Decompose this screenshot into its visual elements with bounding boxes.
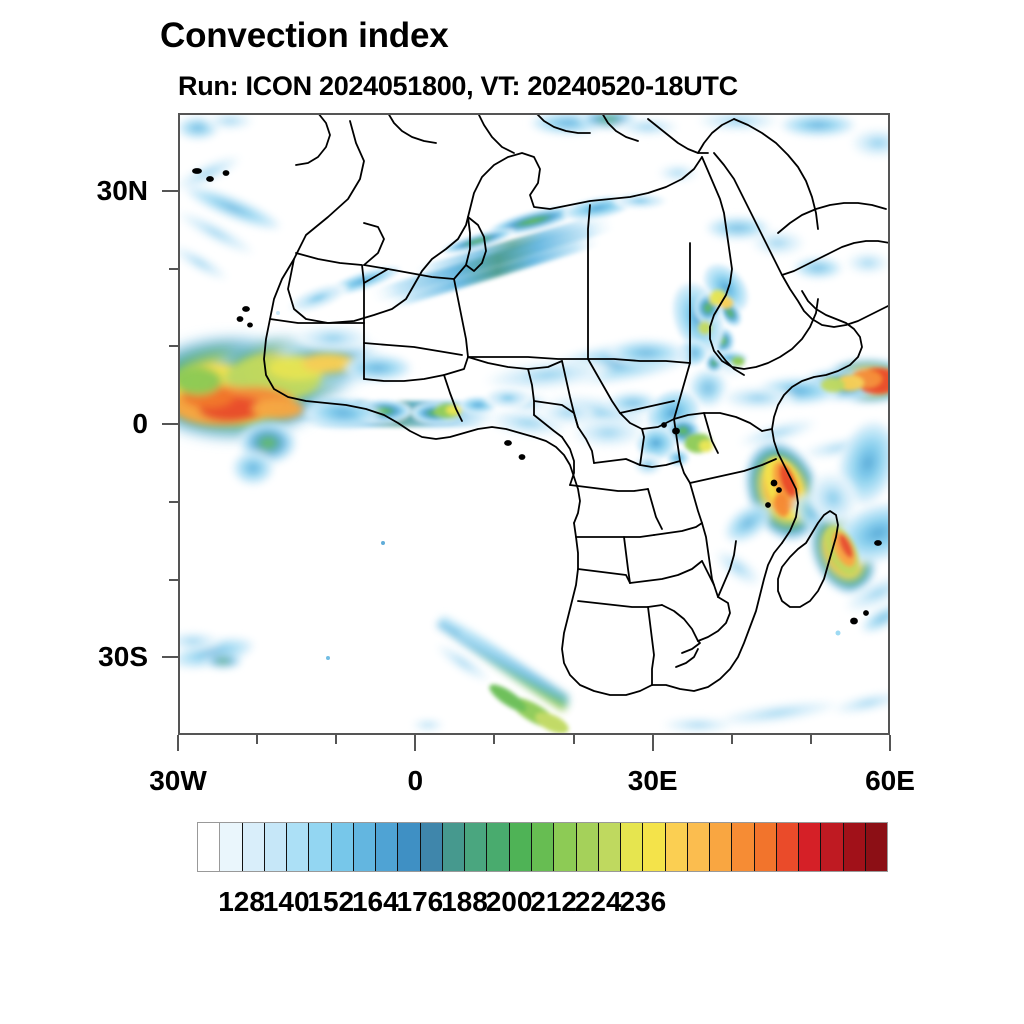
x-axis-tick-label: 30W	[149, 765, 207, 797]
colorbar-cell[interactable]	[688, 823, 710, 871]
colorbar-cell[interactable]	[332, 823, 354, 871]
y-axis-tick-label: 30N	[30, 175, 148, 207]
colorbar-cell[interactable]	[799, 823, 821, 871]
map-canvas	[178, 113, 890, 735]
y-axis-tick-label: 30S	[30, 641, 148, 673]
colorbar-cell[interactable]	[866, 823, 887, 871]
y-axis-minor-tick	[169, 345, 178, 347]
colorbar-cell[interactable]	[532, 823, 554, 871]
colorbar-cell[interactable]	[732, 823, 754, 871]
y-axis-major-tick	[162, 423, 178, 425]
x-axis-major-tick	[177, 735, 179, 751]
y-axis-tick-label: 0	[30, 408, 148, 440]
x-axis-minor-tick	[731, 735, 733, 744]
map-plot-area	[178, 113, 890, 735]
colorbar-cell[interactable]	[354, 823, 376, 871]
colorbar-tick-label: 176	[397, 886, 444, 918]
colorbar-cell[interactable]	[220, 823, 242, 871]
y-axis-minor-tick	[169, 579, 178, 581]
colorbar-cell[interactable]	[421, 823, 443, 871]
colorbar-cell[interactable]	[287, 823, 309, 871]
x-axis-minor-tick	[493, 735, 495, 744]
colorbar-cell[interactable]	[844, 823, 866, 871]
colorbar-cell[interactable]	[777, 823, 799, 871]
x-axis-major-tick	[889, 735, 891, 751]
weather-map-figure: Convection index Run: ICON 2024051800, V…	[0, 0, 1024, 1024]
y-axis-minor-tick	[169, 501, 178, 503]
colorbar-tick-label: 128	[218, 886, 265, 918]
colorbar-cell[interactable]	[465, 823, 487, 871]
colorbar-cell[interactable]	[376, 823, 398, 871]
colorbar[interactable]	[197, 822, 888, 872]
colorbar-tick-label: 212	[530, 886, 577, 918]
x-axis-minor-tick	[810, 735, 812, 744]
colorbar-tick-label: 140	[263, 886, 310, 918]
colorbar-tick-label: 200	[486, 886, 533, 918]
run-valid-time-subtitle: Run: ICON 2024051800, VT: 20240520-18UTC	[178, 71, 738, 102]
colorbar-cell[interactable]	[577, 823, 599, 871]
x-axis-major-tick	[652, 735, 654, 751]
x-axis-tick-label: 0	[408, 765, 424, 797]
colorbar-tick-label: 236	[619, 886, 666, 918]
colorbar-cell[interactable]	[487, 823, 509, 871]
colorbar-cell[interactable]	[398, 823, 420, 871]
colorbar-cell[interactable]	[666, 823, 688, 871]
x-axis-minor-tick	[335, 735, 337, 744]
colorbar-tick-label: 224	[575, 886, 622, 918]
colorbar-tick-label: 164	[352, 886, 399, 918]
colorbar-tick-label: 152	[307, 886, 354, 918]
colorbar-cell[interactable]	[265, 823, 287, 871]
x-axis-minor-tick	[256, 735, 258, 744]
x-axis-tick-label: 30E	[628, 765, 678, 797]
y-axis-minor-tick	[169, 268, 178, 270]
colorbar-cell[interactable]	[621, 823, 643, 871]
colorbar-tick-label: 188	[441, 886, 488, 918]
colorbar-cell[interactable]	[710, 823, 732, 871]
colorbar-cell[interactable]	[243, 823, 265, 871]
colorbar-cell[interactable]	[599, 823, 621, 871]
colorbar-cell[interactable]	[643, 823, 665, 871]
colorbar-cell[interactable]	[755, 823, 777, 871]
y-axis-major-tick	[162, 656, 178, 658]
colorbar-cell[interactable]	[554, 823, 576, 871]
y-axis-major-tick	[162, 190, 178, 192]
x-axis-minor-tick	[573, 735, 575, 744]
colorbar-cell[interactable]	[510, 823, 532, 871]
x-axis-major-tick	[414, 735, 416, 751]
x-axis-tick-label: 60E	[865, 765, 915, 797]
colorbar-cell[interactable]	[443, 823, 465, 871]
page-title: Convection index	[160, 16, 449, 56]
colorbar-cell[interactable]	[309, 823, 331, 871]
colorbar-cell[interactable]	[198, 823, 220, 871]
colorbar-cell[interactable]	[821, 823, 843, 871]
